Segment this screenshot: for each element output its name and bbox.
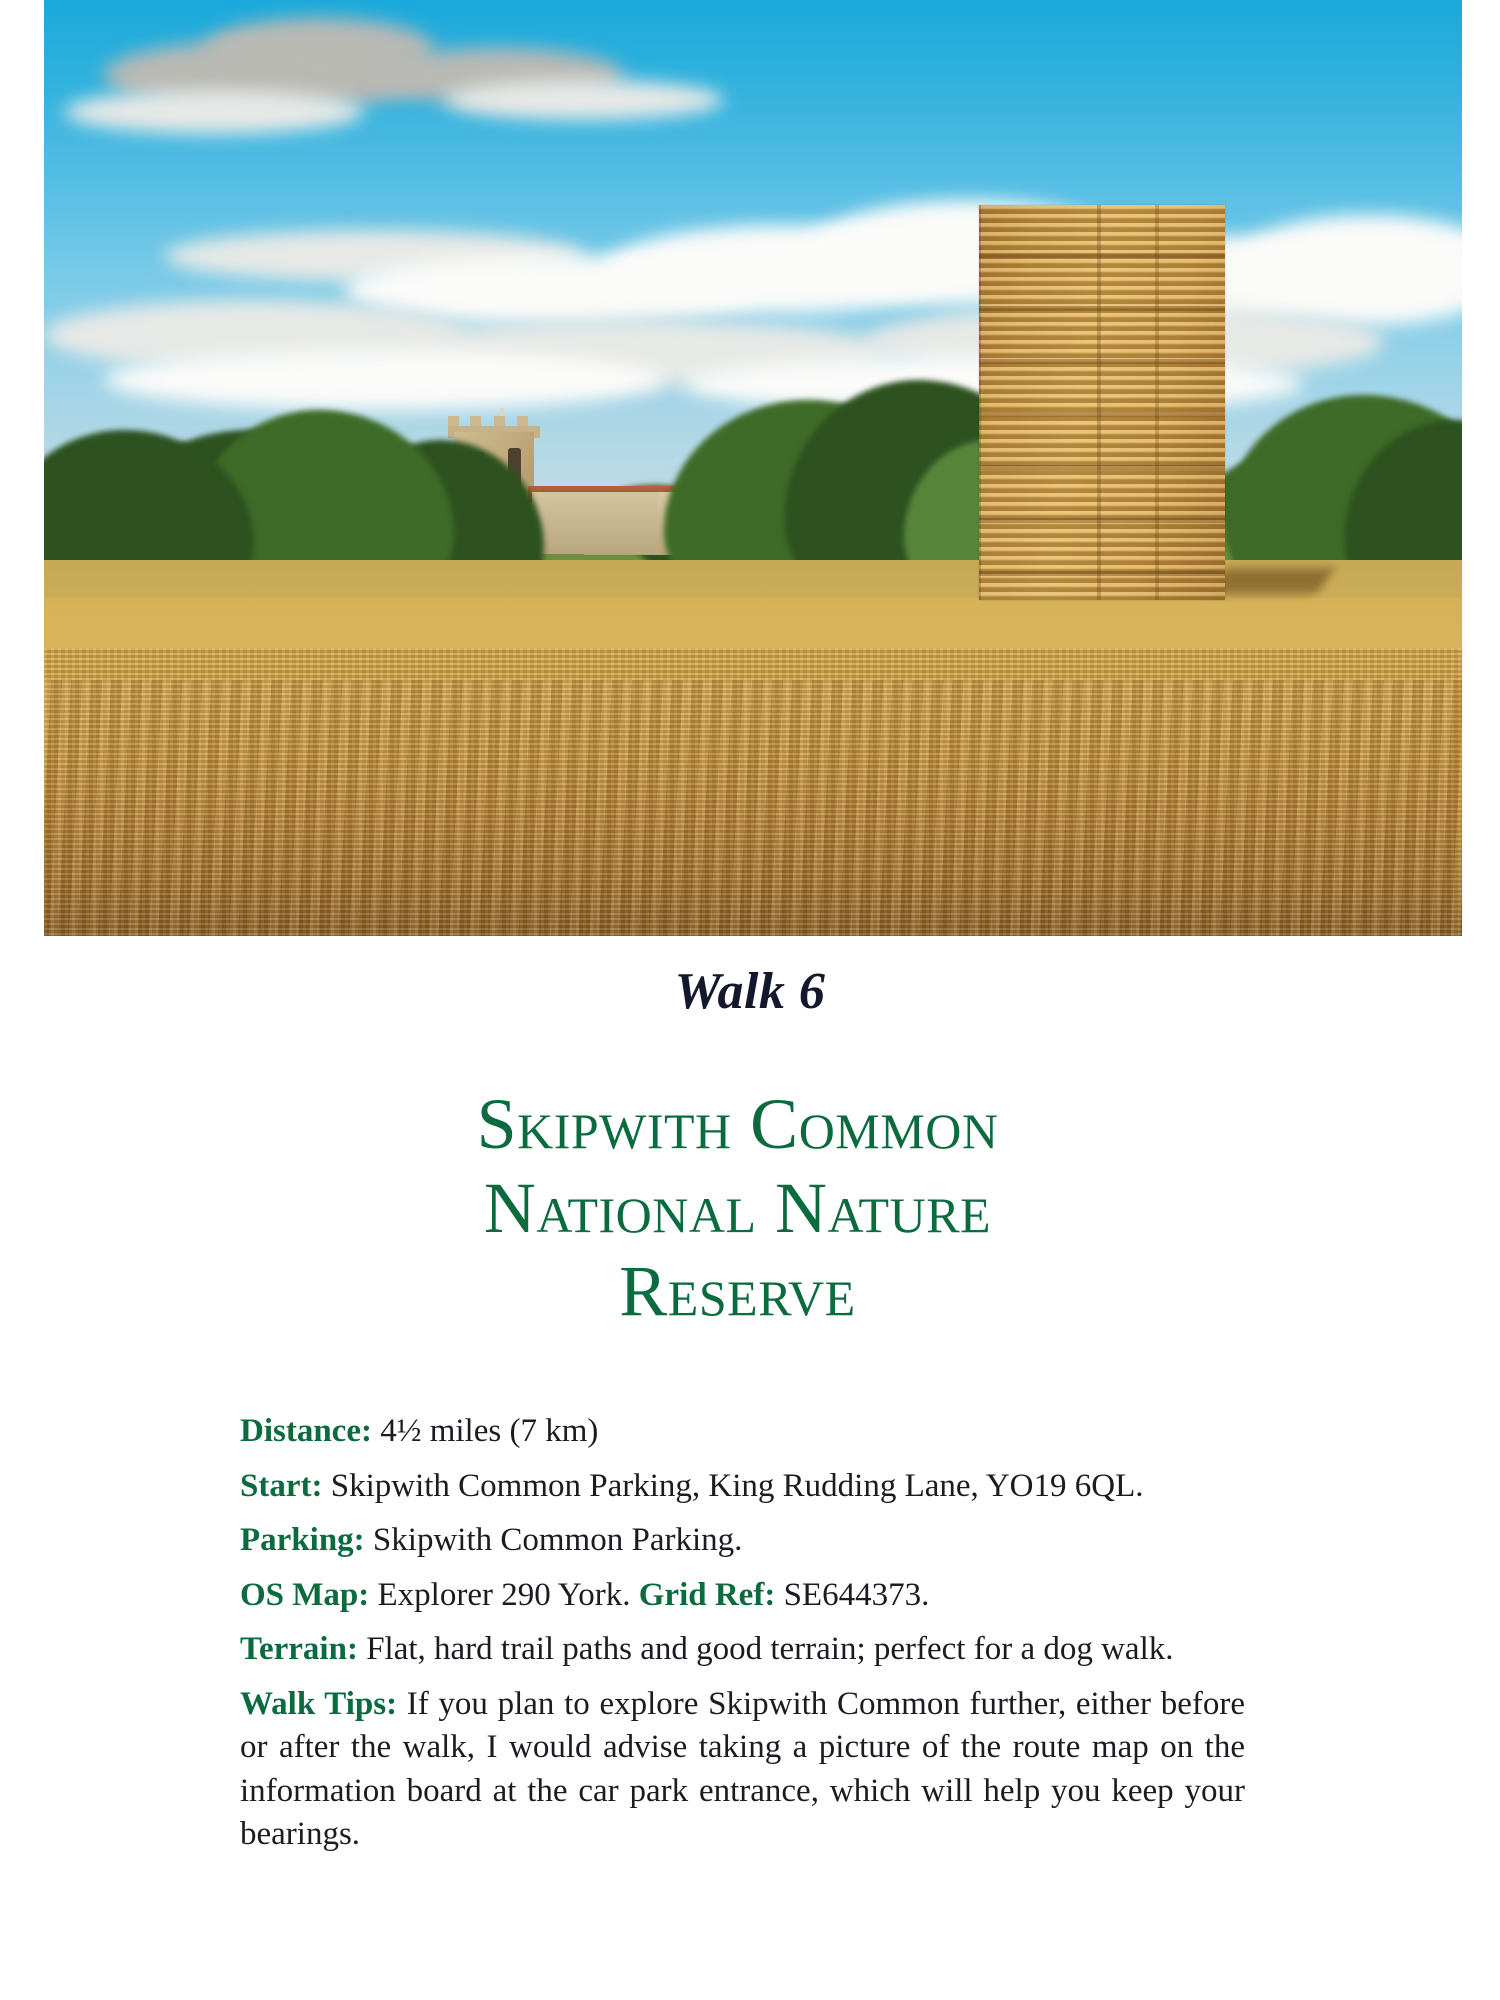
- detail-parking-value: Skipwith Common Parking.: [373, 1522, 742, 1558]
- detail-os-map: OS Map: Explorer 290 York. Grid Ref: SE6…: [240, 1574, 1245, 1618]
- photo-canvas: [44, 0, 1462, 936]
- straw-bale-stack: [979, 205, 1225, 600]
- page-title-line-3: Reserve: [200, 1250, 1275, 1334]
- stubble-rows: [44, 680, 1462, 936]
- detail-start-value: Skipwith Common Parking, King Rudding La…: [331, 1468, 1144, 1504]
- detail-os-map-value: Explorer 290 York.: [378, 1577, 631, 1613]
- cloud-icon: [64, 90, 364, 134]
- detail-grid-ref-label: Grid Ref:: [639, 1577, 776, 1613]
- detail-terrain-value: Flat, hard trail paths and good terrain;…: [366, 1631, 1173, 1667]
- detail-start: Start: Skipwith Common Parking, King Rud…: [240, 1465, 1245, 1509]
- walk-details: Distance: 4½ miles (7 km) Start: Skipwit…: [240, 1410, 1245, 1868]
- page-title-line-1: Skipwith Common: [200, 1083, 1275, 1167]
- page-title-line-2: National Nature: [200, 1167, 1275, 1251]
- detail-grid-ref-value: SE644373.: [784, 1577, 930, 1613]
- detail-parking-label: Parking:: [240, 1522, 365, 1558]
- detail-distance-label: Distance:: [240, 1413, 372, 1449]
- detail-parking: Parking: Skipwith Common Parking.: [240, 1519, 1245, 1563]
- detail-walk-tips-label: Walk Tips:: [240, 1686, 397, 1722]
- walk-number: Walk 6: [0, 962, 1500, 1021]
- detail-start-label: Start:: [240, 1468, 322, 1504]
- header-photo: [44, 0, 1462, 936]
- detail-terrain-label: Terrain:: [240, 1631, 358, 1667]
- cloud-icon: [444, 80, 724, 120]
- detail-terrain: Terrain: Flat, hard trail paths and good…: [240, 1628, 1245, 1672]
- detail-distance-value: 4½ miles (7 km): [380, 1413, 598, 1449]
- detail-walk-tips: Walk Tips: If you plan to explore Skipwi…: [240, 1683, 1245, 1857]
- bale-stack-shadow: [1207, 568, 1335, 594]
- walk-guide-page: Walk 6 Skipwith Common National Nature R…: [0, 0, 1500, 2000]
- detail-os-map-label: OS Map:: [240, 1577, 369, 1613]
- page-title: Skipwith Common National Nature Reserve: [200, 1083, 1275, 1334]
- detail-distance: Distance: 4½ miles (7 km): [240, 1410, 1245, 1454]
